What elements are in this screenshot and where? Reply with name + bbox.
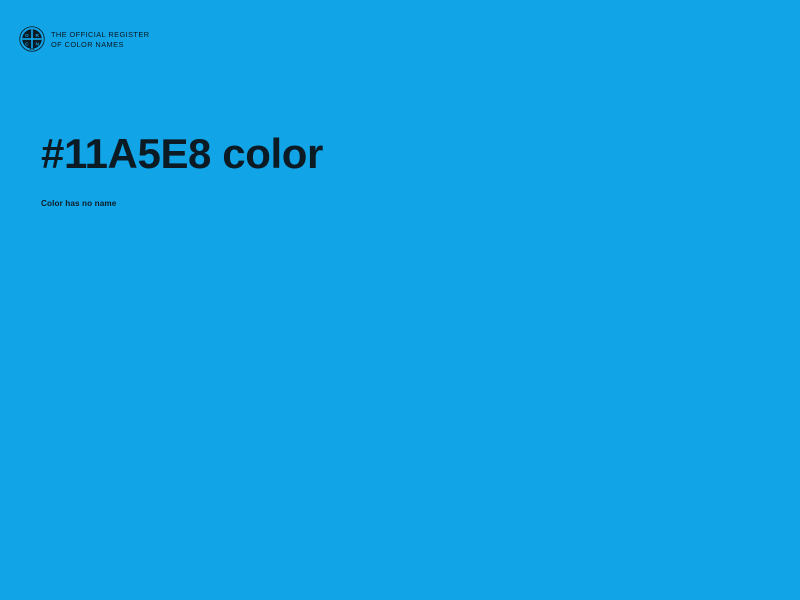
brand-wordmark: THE OFFICIAL REGISTER OF COLOR NAMES bbox=[51, 29, 149, 50]
brand-line-2: OF COLOR NAMES bbox=[51, 40, 149, 50]
svg-text:O: O bbox=[25, 33, 29, 38]
color-name-status: Color has no name bbox=[41, 198, 323, 209]
brand-line-1: THE OFFICIAL REGISTER bbox=[51, 30, 149, 40]
page-title: #11A5E8 color bbox=[41, 131, 323, 177]
brand-lockup[interactable]: O R C N THE OFFICIAL REGISTER OF COLOR N… bbox=[19, 26, 149, 52]
color-info-block: #11A5E8 color Color has no name bbox=[41, 131, 323, 209]
official-register-seal-icon: O R C N bbox=[19, 26, 45, 52]
